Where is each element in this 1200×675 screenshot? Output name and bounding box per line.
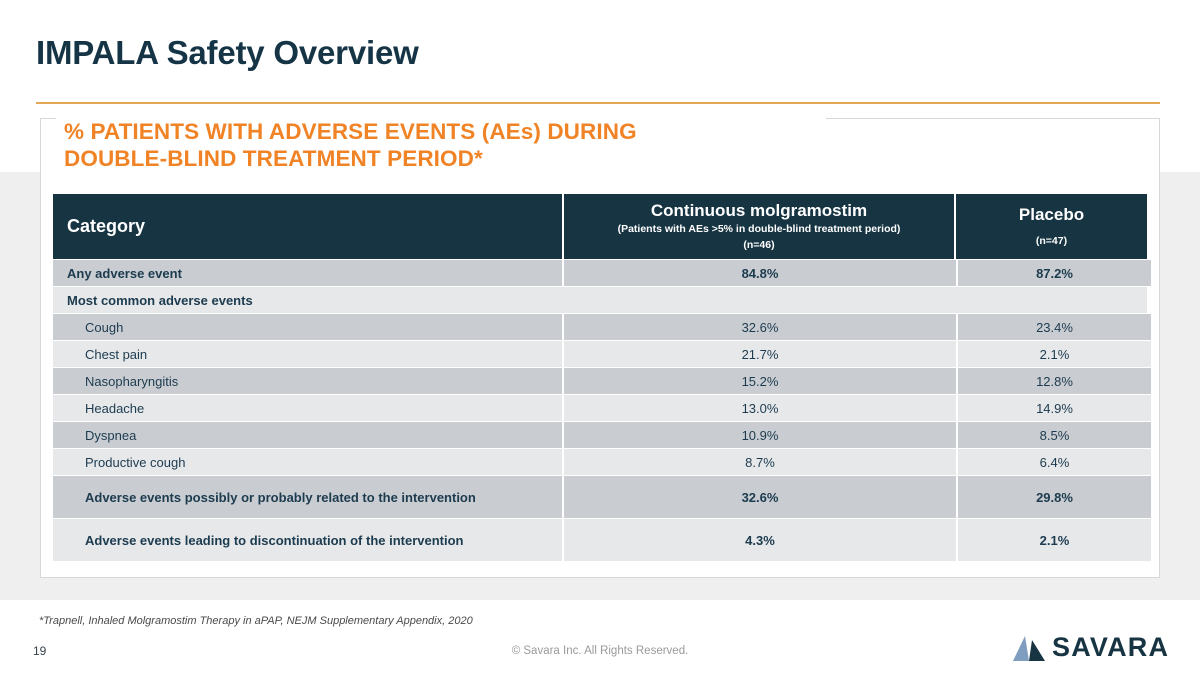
row-value-placebo: 14.9%	[958, 395, 1151, 421]
table-header: Category Continuous molgramostim (Patien…	[53, 194, 1147, 259]
row-label: Dyspnea	[53, 422, 562, 448]
row-value-molgramostim: 4.3%	[564, 519, 956, 561]
page-title: IMPALA Safety Overview	[36, 34, 419, 72]
row-label: Chest pain	[53, 341, 562, 367]
header-placebo-title: Placebo	[1019, 205, 1084, 225]
row-label: Adverse events possibly or probably rela…	[53, 476, 562, 518]
table-row: Nasopharyngitis15.2%12.8%	[53, 368, 1147, 394]
header-cell-category: Category	[53, 194, 562, 259]
row-value-molgramostim: 21.7%	[564, 341, 956, 367]
table-row: Most common adverse events	[53, 287, 1147, 313]
row-value-molgramostim: 10.9%	[564, 422, 956, 448]
savara-mountain-icon	[1012, 632, 1046, 662]
header-molgramostim-n: (n=46)	[743, 239, 774, 252]
row-value-placebo: 2.1%	[958, 341, 1151, 367]
title-divider-rule	[36, 102, 1160, 104]
table-row: Chest pain21.7%2.1%	[53, 341, 1147, 367]
header-placebo-n: (n=47)	[1036, 235, 1067, 248]
header-molgramostim-subtitle: (Patients with AEs >5% in double-blind t…	[618, 222, 901, 236]
row-value-placebo: 2.1%	[958, 519, 1151, 561]
table-row: Dyspnea10.9%8.5%	[53, 422, 1147, 448]
section-heading-line-1: % PATIENTS WITH ADVERSE EVENTS (AEs) DUR…	[64, 119, 637, 144]
row-value-placebo: 8.5%	[958, 422, 1151, 448]
savara-wordmark: SAVARA	[1052, 634, 1169, 661]
row-label: Headache	[53, 395, 562, 421]
row-value-placebo: 29.8%	[958, 476, 1151, 518]
row-label: Productive cough	[53, 449, 562, 475]
table-header-row: Category Continuous molgramostim (Patien…	[53, 194, 1147, 259]
table-row: Adverse events leading to discontinuatio…	[53, 519, 1147, 561]
row-value-placebo: 6.4%	[958, 449, 1151, 475]
row-value-placebo: 23.4%	[958, 314, 1151, 340]
header-molgramostim-title: Continuous molgramostim	[651, 201, 867, 221]
table-body: Any adverse event84.8%87.2%Most common a…	[53, 260, 1147, 561]
section-heading: % PATIENTS WITH ADVERSE EVENTS (AEs) DUR…	[64, 118, 824, 172]
section-heading-line-2: DOUBLE-BLIND TREATMENT PERIOD*	[64, 146, 483, 171]
table-row: Cough32.6%23.4%	[53, 314, 1147, 340]
row-value-placebo: 87.2%	[958, 260, 1151, 286]
row-value-molgramostim: 8.7%	[564, 449, 956, 475]
header-cell-molgramostim: Continuous molgramostim (Patients with A…	[562, 194, 954, 259]
row-value-molgramostim: 32.6%	[564, 476, 956, 518]
table-row: Headache13.0%14.9%	[53, 395, 1147, 421]
slide-canvas: IMPALA Safety Overview % PATIENTS WITH A…	[0, 0, 1200, 675]
row-label: Any adverse event	[53, 260, 562, 286]
footnote: *Trapnell, Inhaled Molgramostim Therapy …	[39, 615, 473, 627]
savara-logo: SAVARA	[1012, 630, 1169, 664]
row-value-molgramostim: 84.8%	[564, 260, 956, 286]
adverse-events-table: Category Continuous molgramostim (Patien…	[53, 194, 1147, 561]
table-row: Any adverse event84.8%87.2%	[53, 260, 1147, 286]
table-row: Adverse events possibly or probably rela…	[53, 476, 1147, 518]
row-label: Cough	[53, 314, 562, 340]
row-value-molgramostim: 15.2%	[564, 368, 956, 394]
row-label: Most common adverse events	[53, 287, 1147, 313]
row-value-molgramostim: 32.6%	[564, 314, 956, 340]
table-row: Productive cough8.7%6.4%	[53, 449, 1147, 475]
row-label: Nasopharyngitis	[53, 368, 562, 394]
row-value-placebo: 12.8%	[958, 368, 1151, 394]
row-value-molgramostim: 13.0%	[564, 395, 956, 421]
header-cell-placebo: Placebo (n=47)	[954, 194, 1147, 259]
row-label: Adverse events leading to discontinuatio…	[53, 519, 562, 561]
